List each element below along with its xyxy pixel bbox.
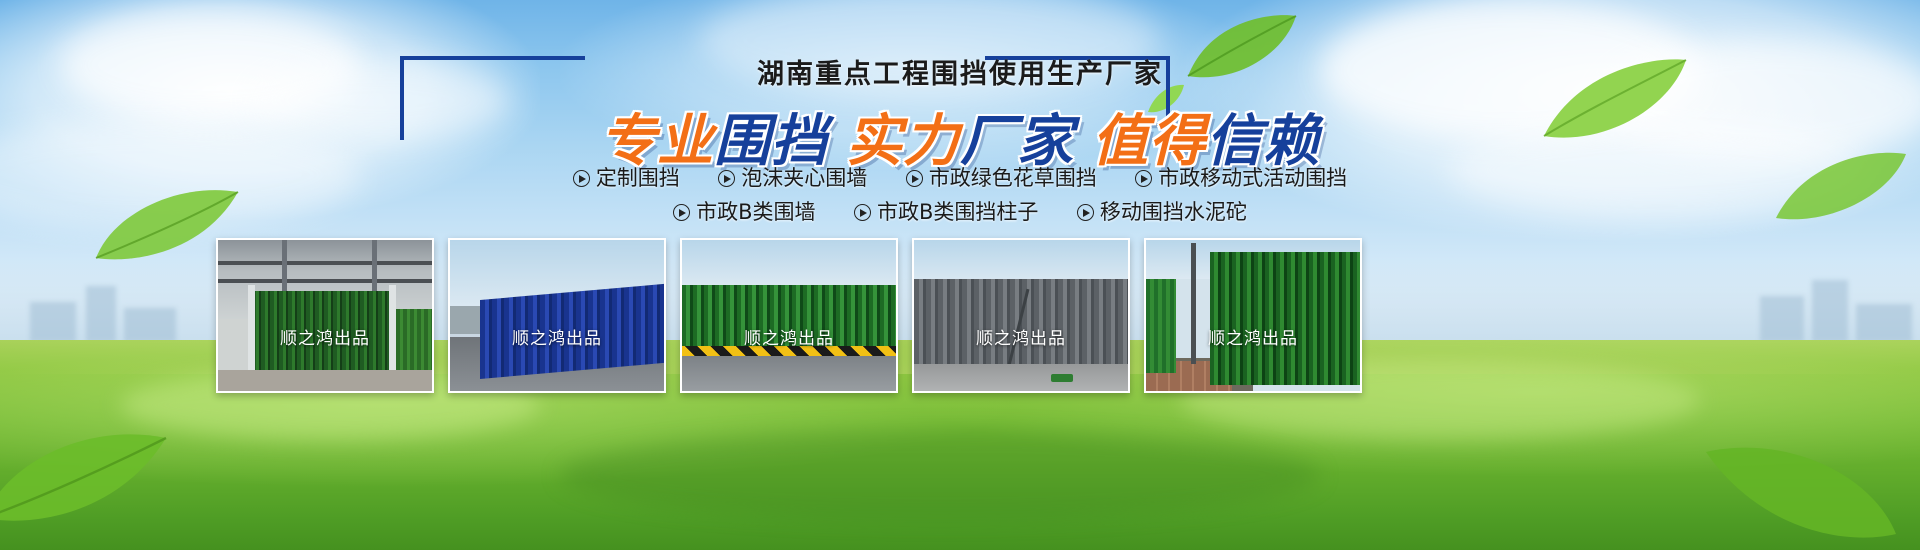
play-bullet-icon <box>573 170 590 187</box>
photo3-road <box>682 356 896 391</box>
product-photo-3[interactable]: 顺之鸿出品 <box>680 238 898 393</box>
feature-item-3: 市政绿色花草围挡 <box>906 162 1097 192</box>
feature-label-4: 市政移动式活动围挡 <box>1158 166 1347 190</box>
feature-item-5: 市政B类围墙 <box>673 196 815 226</box>
feature-list-row-1: 定制围挡 泡沫夹心围墙 市政绿色花草围挡 市政移动式活动围挡 <box>0 162 1920 192</box>
feature-item-6: 市政B类围挡柱子 <box>854 196 1038 226</box>
feature-label-1: 定制围挡 <box>596 166 680 190</box>
photo1-beam-b <box>218 279 432 283</box>
promo-banner: 湖南重点工程围挡使用生产厂家 专业围挡实力厂家值得信赖 定制围挡 泡沫夹心围墙 … <box>0 0 1920 550</box>
feature-item-7: 移动围挡水泥砣 <box>1077 196 1247 226</box>
photo4-base-block <box>1051 374 1073 382</box>
photo2-watermark: 顺之鸿出品 <box>450 324 664 349</box>
photo4-watermark: 顺之鸿出品 <box>914 324 1128 349</box>
feature-label-6: 市政B类围挡柱子 <box>877 200 1038 224</box>
photo4-road <box>914 364 1128 391</box>
feature-label-7: 移动围挡水泥砣 <box>1100 200 1247 224</box>
feature-item-4: 市政移动式活动围挡 <box>1135 162 1347 192</box>
feature-item-2: 泡沫夹心围墙 <box>718 162 867 192</box>
photo3-watermark: 顺之鸿出品 <box>682 324 896 349</box>
feature-label-5: 市政B类围墙 <box>696 200 815 224</box>
feature-label-3: 市政绿色花草围挡 <box>929 166 1097 190</box>
play-bullet-icon <box>1135 170 1152 187</box>
product-photo-5[interactable]: 顺之鸿出品 <box>1144 238 1362 393</box>
feature-list-row-2: 市政B类围墙 市政B类围挡柱子 移动围挡水泥砣 <box>0 196 1920 226</box>
photo5-grass-fence <box>1210 252 1360 385</box>
banner-subtitle: 湖南重点工程围挡使用生产厂家 <box>0 52 1920 91</box>
play-bullet-icon <box>854 204 871 221</box>
photo1-floor <box>218 370 432 391</box>
product-photo-2[interactable]: 顺之鸿出品 <box>448 238 666 393</box>
photo5-watermark: 顺之鸿出品 <box>1146 324 1360 349</box>
product-photo-strip: 顺之鸿出品 顺之鸿出品 顺之鸿出品 顺之鸿出品 <box>216 238 1706 393</box>
photo1-beam-a <box>218 261 432 265</box>
play-bullet-icon <box>673 204 690 221</box>
play-bullet-icon <box>718 170 735 187</box>
product-photo-4[interactable]: 顺之鸿出品 <box>912 238 1130 393</box>
play-bullet-icon <box>906 170 923 187</box>
play-bullet-icon <box>1077 204 1094 221</box>
grass-shadow-1 <box>560 430 1320 520</box>
photo3-sky <box>682 240 896 288</box>
feature-item-1: 定制围挡 <box>573 162 680 192</box>
photo1-watermark: 顺之鸿出品 <box>218 324 432 349</box>
product-photo-1[interactable]: 顺之鸿出品 <box>216 238 434 393</box>
feature-label-2: 泡沫夹心围墙 <box>741 166 867 190</box>
